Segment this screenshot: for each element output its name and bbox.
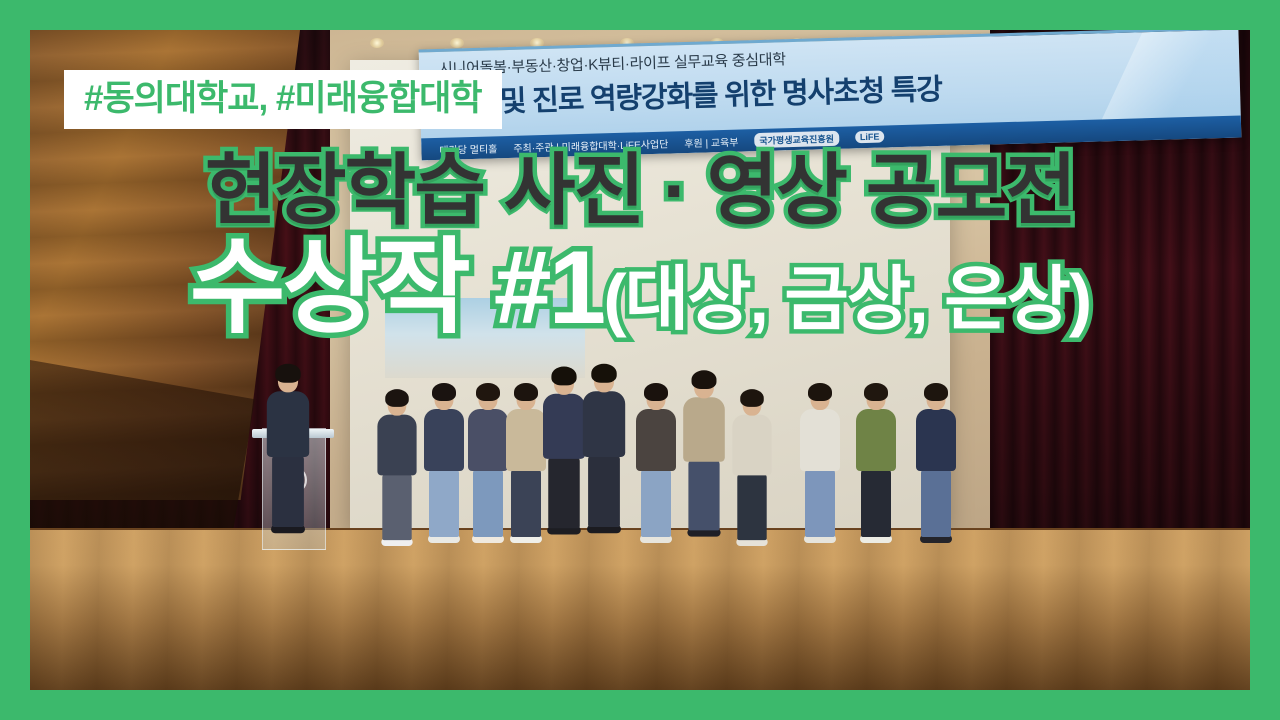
person-legs — [429, 469, 459, 537]
person-hair — [692, 370, 717, 389]
person-hair — [514, 383, 538, 401]
person-torso — [856, 409, 896, 471]
stage-photo: 시니어돌봄·부동산·창업·K뷰티·라이프 실무교육 중심대학 창업 및 진로 역… — [30, 30, 1250, 690]
person-legs — [588, 454, 620, 526]
person-legs — [688, 459, 719, 530]
person-torso — [916, 409, 956, 471]
event-banner: 시니어돌봄·부동산·창업·K뷰티·라이프 실무교육 중심대학 창업 및 진로 역… — [419, 30, 1242, 160]
person-legs — [272, 454, 304, 526]
participant-2 — [422, 387, 466, 545]
person-hair — [385, 389, 409, 407]
person-legs — [805, 469, 835, 537]
hashtag-label: #동의대학교, #미래융합대학 — [84, 81, 482, 116]
person-torso — [377, 415, 416, 476]
person-torso — [267, 391, 309, 457]
ceiling-light-1 — [370, 38, 384, 48]
participant-12 — [914, 387, 958, 545]
person-legs — [382, 474, 411, 541]
person-hair — [476, 383, 500, 401]
banner-sponsor-life: LiFE — [855, 131, 885, 144]
person-torso — [583, 391, 625, 457]
participant-10 — [798, 387, 842, 545]
person-hair — [275, 363, 300, 382]
person-legs — [641, 469, 671, 537]
person-torso — [424, 409, 464, 471]
hashtag-badge: #동의대학교, #미래융합대학 — [64, 70, 502, 129]
person-hair — [864, 383, 888, 401]
participant-7 — [634, 387, 678, 545]
person-legs — [737, 474, 766, 541]
person-torso — [800, 409, 840, 471]
person-torso — [683, 397, 725, 461]
projected-slide — [385, 298, 585, 378]
person-torso — [543, 394, 585, 459]
person-legs — [548, 457, 580, 528]
banner-host: 주최·주관 | 미래융합대학·LiFE사업단 — [513, 135, 668, 154]
person-legs — [921, 469, 951, 537]
participant-1 — [375, 393, 418, 545]
person-legs — [511, 469, 541, 537]
participant-9 — [730, 393, 773, 545]
participant-11 — [854, 387, 898, 545]
person-hair — [591, 363, 616, 382]
person-hair — [808, 383, 832, 401]
person-torso — [468, 409, 508, 471]
participant-8 — [681, 374, 727, 545]
person-torso — [732, 415, 771, 476]
participant-6 — [581, 367, 628, 545]
ceiling-light-2 — [450, 38, 464, 48]
banner-support: 후원 | 교육부 — [684, 133, 739, 150]
banner-sponsor-nile: 국가평생교육진흥원 — [754, 130, 839, 147]
person-hair — [740, 389, 764, 407]
person-hair — [432, 383, 456, 401]
podium-speaker — [265, 367, 312, 545]
person-hair — [644, 383, 668, 401]
thumbnail-frame: 시니어돌봄·부동산·창업·K뷰티·라이프 실무교육 중심대학 창업 및 진로 역… — [0, 0, 1280, 720]
person-legs — [861, 469, 891, 537]
person-hair — [551, 367, 576, 386]
person-torso — [636, 409, 676, 471]
person-hair — [924, 383, 948, 401]
person-legs — [473, 469, 503, 537]
stage-floor — [30, 530, 1250, 690]
banner-venue: 대강당 멀티홀 — [439, 140, 497, 157]
